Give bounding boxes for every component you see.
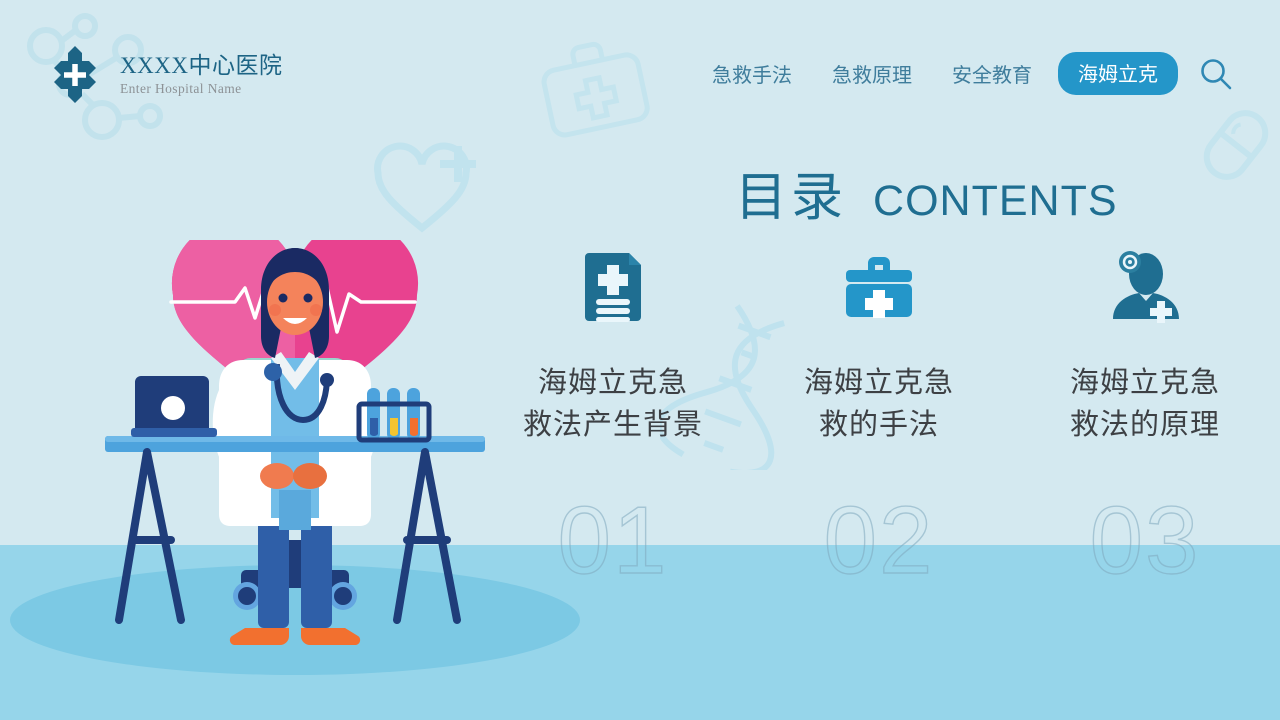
contents-item-1-number: 01 <box>558 486 669 596</box>
capsule-pill-watermark <box>1196 104 1276 186</box>
first-aid-bag-watermark <box>525 32 665 152</box>
medical-record-document-icon <box>579 248 647 326</box>
contents-list: 海姆立克急 救法产生背景 01 海姆立克急 救的手法 02 <box>480 248 1280 446</box>
page-title-cn: 目录 <box>735 155 847 230</box>
contents-item-3-number: 03 <box>1090 486 1201 596</box>
nav-item-2[interactable]: 安全教育 <box>932 59 1052 88</box>
slide-canvas: XXXX中心医院 Enter Hospital Name 急救手法 急救原理 安… <box>0 0 1280 720</box>
main-navigation: 急救手法 急救原理 安全教育 海姆立克 <box>692 52 1234 95</box>
contents-item-3-label: 海姆立克急 救法的原理 <box>1070 362 1220 446</box>
contents-item-3[interactable]: 海姆立克急 救法的原理 03 <box>1012 248 1278 446</box>
page-title: 目录 CONTENTS <box>735 155 1118 230</box>
contents-item-1-label: 海姆立克急 救法产生背景 <box>523 362 703 446</box>
contents-item-2[interactable]: 海姆立克急 救的手法 02 <box>746 248 1012 446</box>
nav-item-1[interactable]: 急救原理 <box>812 59 932 88</box>
brand-subtitle: Enter Hospital Name <box>120 81 282 97</box>
brand-title: XXXX中心医院 <box>120 53 282 79</box>
heart-plus-watermark <box>372 140 482 240</box>
contents-item-2-label: 海姆立克急 救的手法 <box>804 362 954 446</box>
medical-cross-flower-logo-icon <box>44 44 106 106</box>
contents-item-2-number: 02 <box>824 486 935 596</box>
nav-item-0[interactable]: 急救手法 <box>692 59 812 88</box>
nav-item-3-active[interactable]: 海姆立克 <box>1058 52 1178 95</box>
doctor-person-icon <box>1105 248 1185 326</box>
contents-item-1[interactable]: 海姆立克急 救法产生背景 01 <box>480 248 746 446</box>
female-doctor-at-desk-illustration <box>95 240 495 650</box>
page-title-en: CONTENTS <box>873 177 1118 226</box>
first-aid-kit-icon <box>840 248 918 326</box>
search-icon[interactable] <box>1198 56 1234 92</box>
brand-logo-area[interactable]: XXXX中心医院 Enter Hospital Name <box>44 44 282 106</box>
